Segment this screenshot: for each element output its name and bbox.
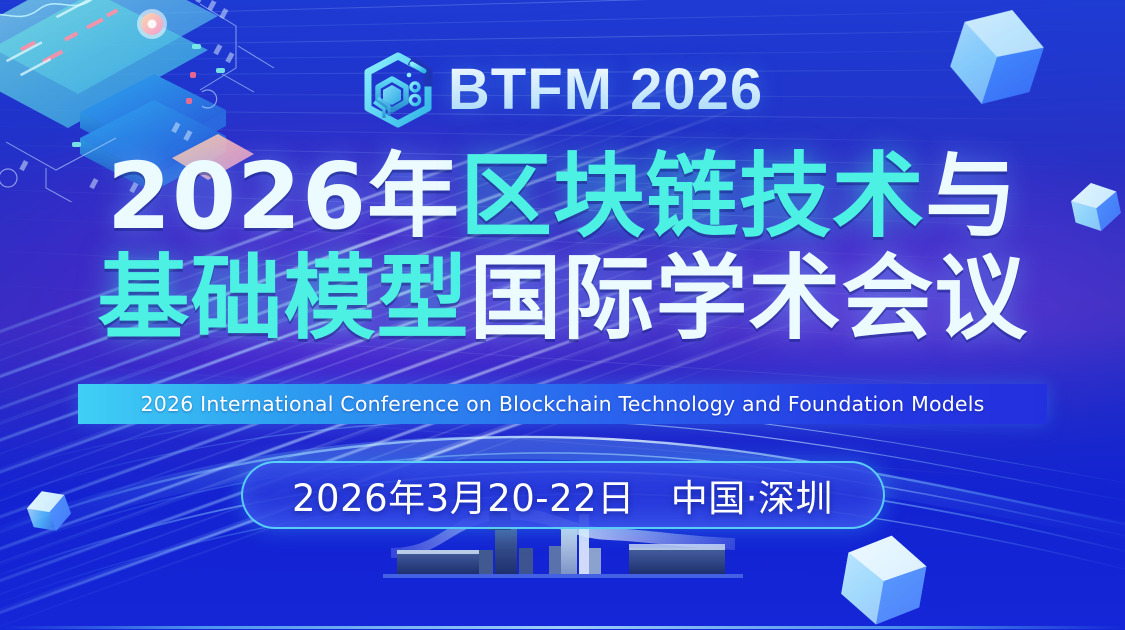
english-subtitle: 2026 International Conference on Blockch… <box>140 392 984 416</box>
title-seg-and: 与 <box>925 143 1018 250</box>
logo-text: BTFM 2026 <box>448 61 763 119</box>
title-seg-foundation-models: 基础模型 <box>97 245 469 352</box>
logo-row: BTFM 2026 <box>0 52 1125 128</box>
main-title: 2026年区块链技术与 基础模型国际学术会议 <box>0 148 1125 347</box>
title-line-1: 2026年区块链技术与 <box>0 148 1125 246</box>
title-seg-conference: 国际学术会议 <box>470 245 1028 352</box>
title-seg-blockchain: 区块链技术 <box>460 143 925 250</box>
conference-date: 2026年3月20-22日 <box>292 468 635 522</box>
title-line-2: 基础模型国际学术会议 <box>0 250 1125 348</box>
english-subtitle-bar: 2026 International Conference on Blockch… <box>78 384 1047 424</box>
date-location-pill: 2026年3月20-22日 中国·深圳 <box>241 461 885 529</box>
banner-content: BTFM 2026 2026年区块链技术与 基础模型国际学术会议 2026 In… <box>0 0 1125 630</box>
hexagon-blockchain-icon <box>362 52 434 128</box>
title-seg-year: 2026年 <box>107 143 460 250</box>
conference-banner: BTFM 2026 2026年区块链技术与 基础模型国际学术会议 2026 In… <box>0 0 1125 630</box>
conference-location: 中国·深圳 <box>671 468 833 522</box>
